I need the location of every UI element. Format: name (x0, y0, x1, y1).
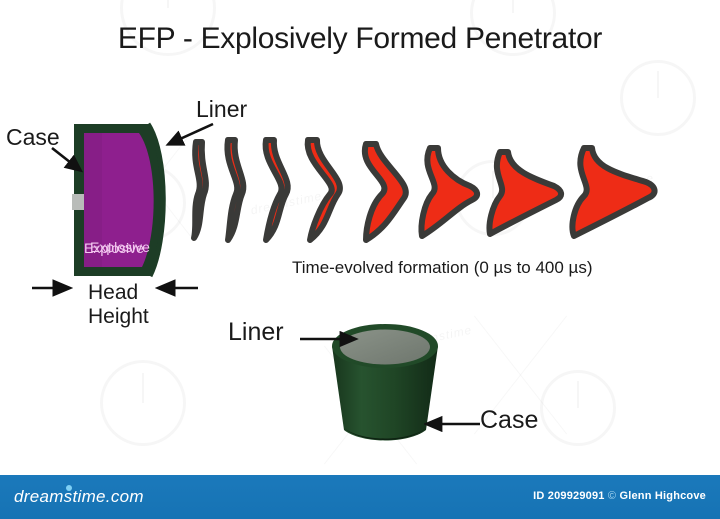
case-label-cylinder: Case (480, 406, 538, 435)
logo-dot-icon (66, 485, 72, 491)
copyright-icon: © (608, 490, 616, 502)
head-height-label-line1: Head (88, 281, 138, 305)
watermark-ring (100, 360, 186, 446)
liner-arrow-top (155, 122, 217, 154)
explosive-label: Explosive (84, 240, 144, 256)
formation-stage-6 (421, 148, 477, 236)
watermark-ring (620, 60, 696, 136)
formation-stage-3 (266, 140, 288, 240)
liner-label-top: Liner (196, 96, 247, 123)
formation-stage-4 (308, 140, 340, 240)
formation-stage-7 (489, 152, 561, 234)
dreamstime-logo[interactable]: dreamstime.com (14, 487, 144, 507)
formation-stage-2 (227, 140, 243, 240)
formation-stage-5 (365, 144, 406, 240)
page-title: EFP - Explosively Formed Penetrator (0, 22, 720, 56)
watermark-ring (540, 370, 616, 446)
author-name: Glenn Highcove (619, 490, 706, 502)
formation-stages-svg (180, 128, 680, 253)
dreamstime-logo-text: dreamstime.com (14, 487, 144, 506)
initiator-pad (72, 194, 84, 210)
head-height-label-line2: Height (88, 305, 149, 329)
liner-leader-cylinder (298, 330, 368, 348)
image-canvas: dreamstime dreamstime dreamstime EFP - E… (0, 0, 720, 519)
case-leader-cylinder (424, 414, 484, 434)
case-arrow (50, 146, 96, 180)
dreamstime-footer-bar: dreamstime.com ID 209929091 © Glenn High… (0, 475, 720, 519)
image-credit: ID 209929091 © Glenn Highcove (533, 490, 706, 502)
formation-stages (180, 128, 680, 253)
formation-stage-8 (572, 148, 654, 236)
liner-label-cylinder: Liner (228, 318, 284, 347)
image-id: ID 209929091 (533, 490, 605, 502)
formation-caption: Time-evolved formation (0 µs to 400 µs) (292, 258, 593, 278)
formation-stage-1 (194, 142, 206, 238)
